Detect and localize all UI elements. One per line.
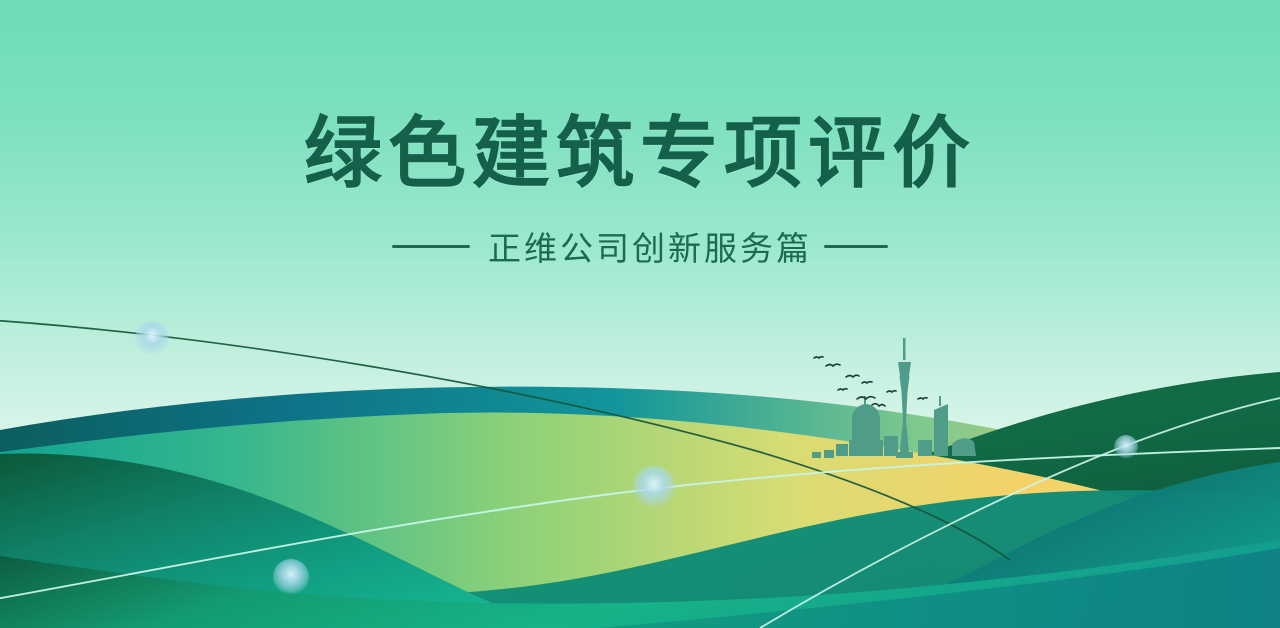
background-illustration xyxy=(0,0,1280,628)
node-dot-center xyxy=(633,466,675,508)
poster-canvas: 绿色建筑专项评价 正维公司创新服务篇 xyxy=(0,0,1280,628)
high-rise-building xyxy=(934,396,948,456)
node-dot-right xyxy=(1114,435,1138,459)
node-dot-lower-left xyxy=(273,559,309,595)
node-dot-upper-left xyxy=(135,321,169,355)
